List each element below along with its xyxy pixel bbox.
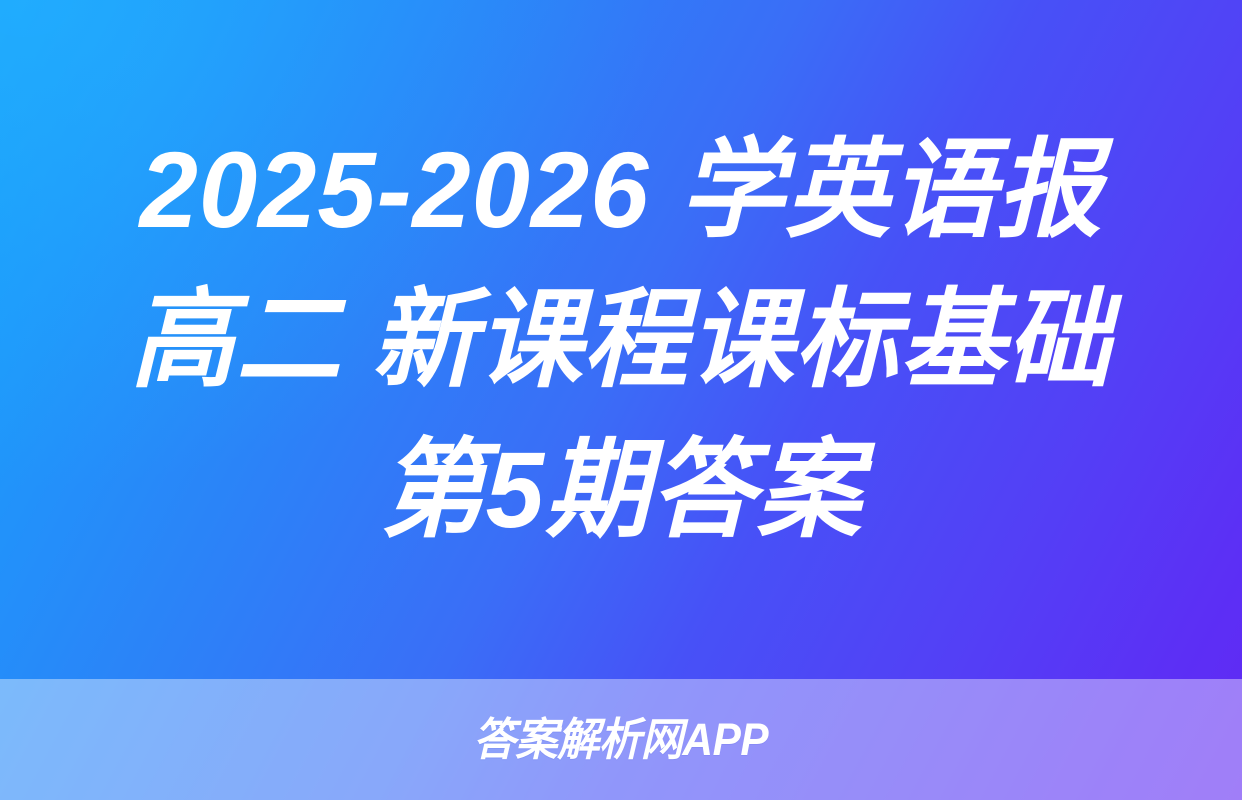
footer-band: 答案解析网APP: [0, 679, 1242, 800]
promo-banner: 2025-2026 学英语报 高二 新课程课标基础 第5期答案 答案解析网APP: [0, 0, 1242, 800]
banner-title-block: 2025-2026 学英语报 高二 新课程课标基础 第5期答案: [0, 0, 1242, 679]
page-title: 2025-2026 学英语报 高二 新课程课标基础 第5期答案: [83, 115, 1160, 565]
app-watermark-label: 答案解析网APP: [474, 717, 769, 762]
